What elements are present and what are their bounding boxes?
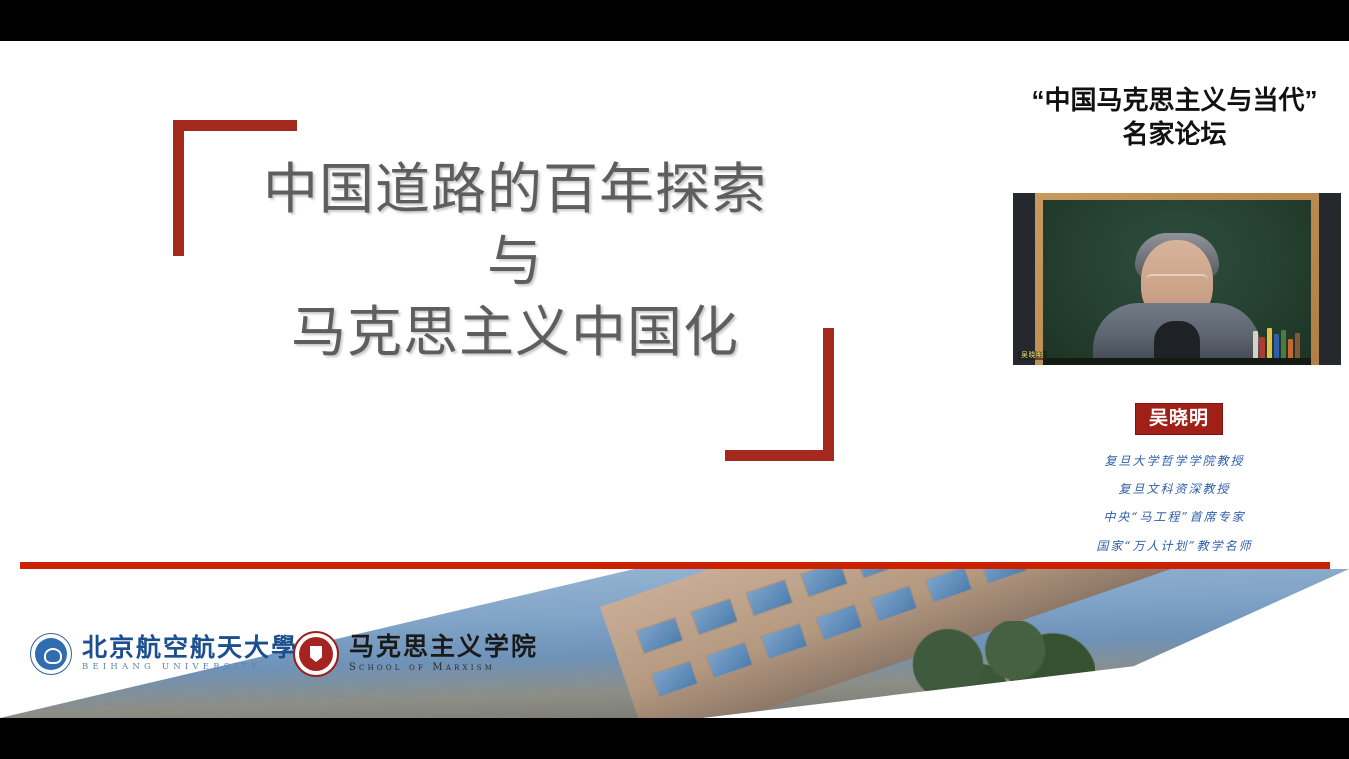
logo-beihang-en: BEIHANG UNIVERSITY xyxy=(82,661,298,674)
speaker-glasses xyxy=(1146,274,1208,289)
red-divider-rule xyxy=(20,562,1330,569)
building-window xyxy=(925,569,973,603)
presentation-slide: 中国道路的百年探索 与 马克思主义中国化 “中国马克思主义与当代” 名家论坛 xyxy=(0,41,1349,718)
building-window xyxy=(636,617,684,654)
beihang-seal-icon xyxy=(30,633,72,675)
forum-heading-line-2: 名家论坛 xyxy=(1000,117,1349,151)
chalkboard xyxy=(1043,200,1311,365)
title-line-1: 中国道路的百年探索 xyxy=(195,154,835,226)
speaker-column: “中国马克思主义与当代” 名家论坛 xyxy=(1000,41,1349,571)
building-window xyxy=(745,579,793,616)
building-window xyxy=(760,623,808,660)
marxism-seal-icon xyxy=(293,631,339,677)
speaker-video-tile[interactable]: 吴晓明 xyxy=(1013,193,1341,365)
logo-beihang-words: 北京航空航天大學 BEIHANG UNIVERSITY xyxy=(82,634,298,674)
book-spine xyxy=(1281,330,1286,361)
video-pillarbox-right xyxy=(1319,193,1341,365)
building-window xyxy=(800,569,848,598)
video-name-tag: 吴晓明 xyxy=(1018,351,1047,360)
video-letterbox-stage: 中国道路的百年探索 与 马克思主义中国化 “中国马克思主义与当代” 名家论坛 xyxy=(0,0,1349,759)
credential-line-4: 国家“万人计划”教学名师 xyxy=(1000,532,1349,560)
book-spine xyxy=(1295,333,1300,361)
credential-line-2: 复旦文科资深教授 xyxy=(1000,475,1349,503)
video-pillarbox-left xyxy=(1013,193,1035,365)
logo-school-of-marxism: 马克思主义学院 School of Marxism xyxy=(293,631,538,677)
credential-line-1: 复旦大学哲学学院教授 xyxy=(1000,447,1349,475)
desk-edge xyxy=(1043,358,1311,365)
logo-marxism-cn: 马克思主义学院 xyxy=(349,633,538,661)
building-window xyxy=(705,642,753,679)
logo-beihang-university: 北京航空航天大學 BEIHANG UNIVERSITY xyxy=(30,633,298,675)
book-spine xyxy=(1274,334,1279,361)
logo-beihang-cn: 北京航空航天大學 xyxy=(82,634,298,662)
slide-title: 中国道路的百年探索 与 马克思主义中国化 xyxy=(195,154,835,369)
logo-marxism-en: School of Marxism xyxy=(349,660,538,675)
speaker-name-badge: 吴晓明 xyxy=(1135,403,1223,435)
forum-heading: “中国马克思主义与当代” 名家论坛 xyxy=(1000,83,1349,152)
title-line-3: 马克思主义中国化 xyxy=(195,297,835,369)
building-window xyxy=(651,661,699,698)
building-window xyxy=(870,585,918,622)
logo-marxism-words: 马克思主义学院 School of Marxism xyxy=(349,633,538,676)
building-window xyxy=(690,598,738,635)
title-line-2: 与 xyxy=(195,226,835,298)
building-window xyxy=(815,604,863,641)
forum-heading-line-1: “中国马克思主义与当代” xyxy=(1000,83,1349,117)
book-spine xyxy=(1267,328,1272,361)
speaker-credentials: 复旦大学哲学学院教授 复旦文科资深教授 中央“马工程”首席专家 国家“万人计划”… xyxy=(1000,447,1349,560)
title-block: 中国道路的百年探索 与 马克思主义中国化 xyxy=(165,116,845,461)
building-window xyxy=(855,569,903,579)
chalkboard-frame xyxy=(1035,193,1319,365)
building-window xyxy=(980,569,1028,585)
bookshelf xyxy=(1253,327,1305,361)
book-spine xyxy=(1253,331,1258,361)
credential-line-3: 中央“马工程”首席专家 xyxy=(1000,503,1349,531)
